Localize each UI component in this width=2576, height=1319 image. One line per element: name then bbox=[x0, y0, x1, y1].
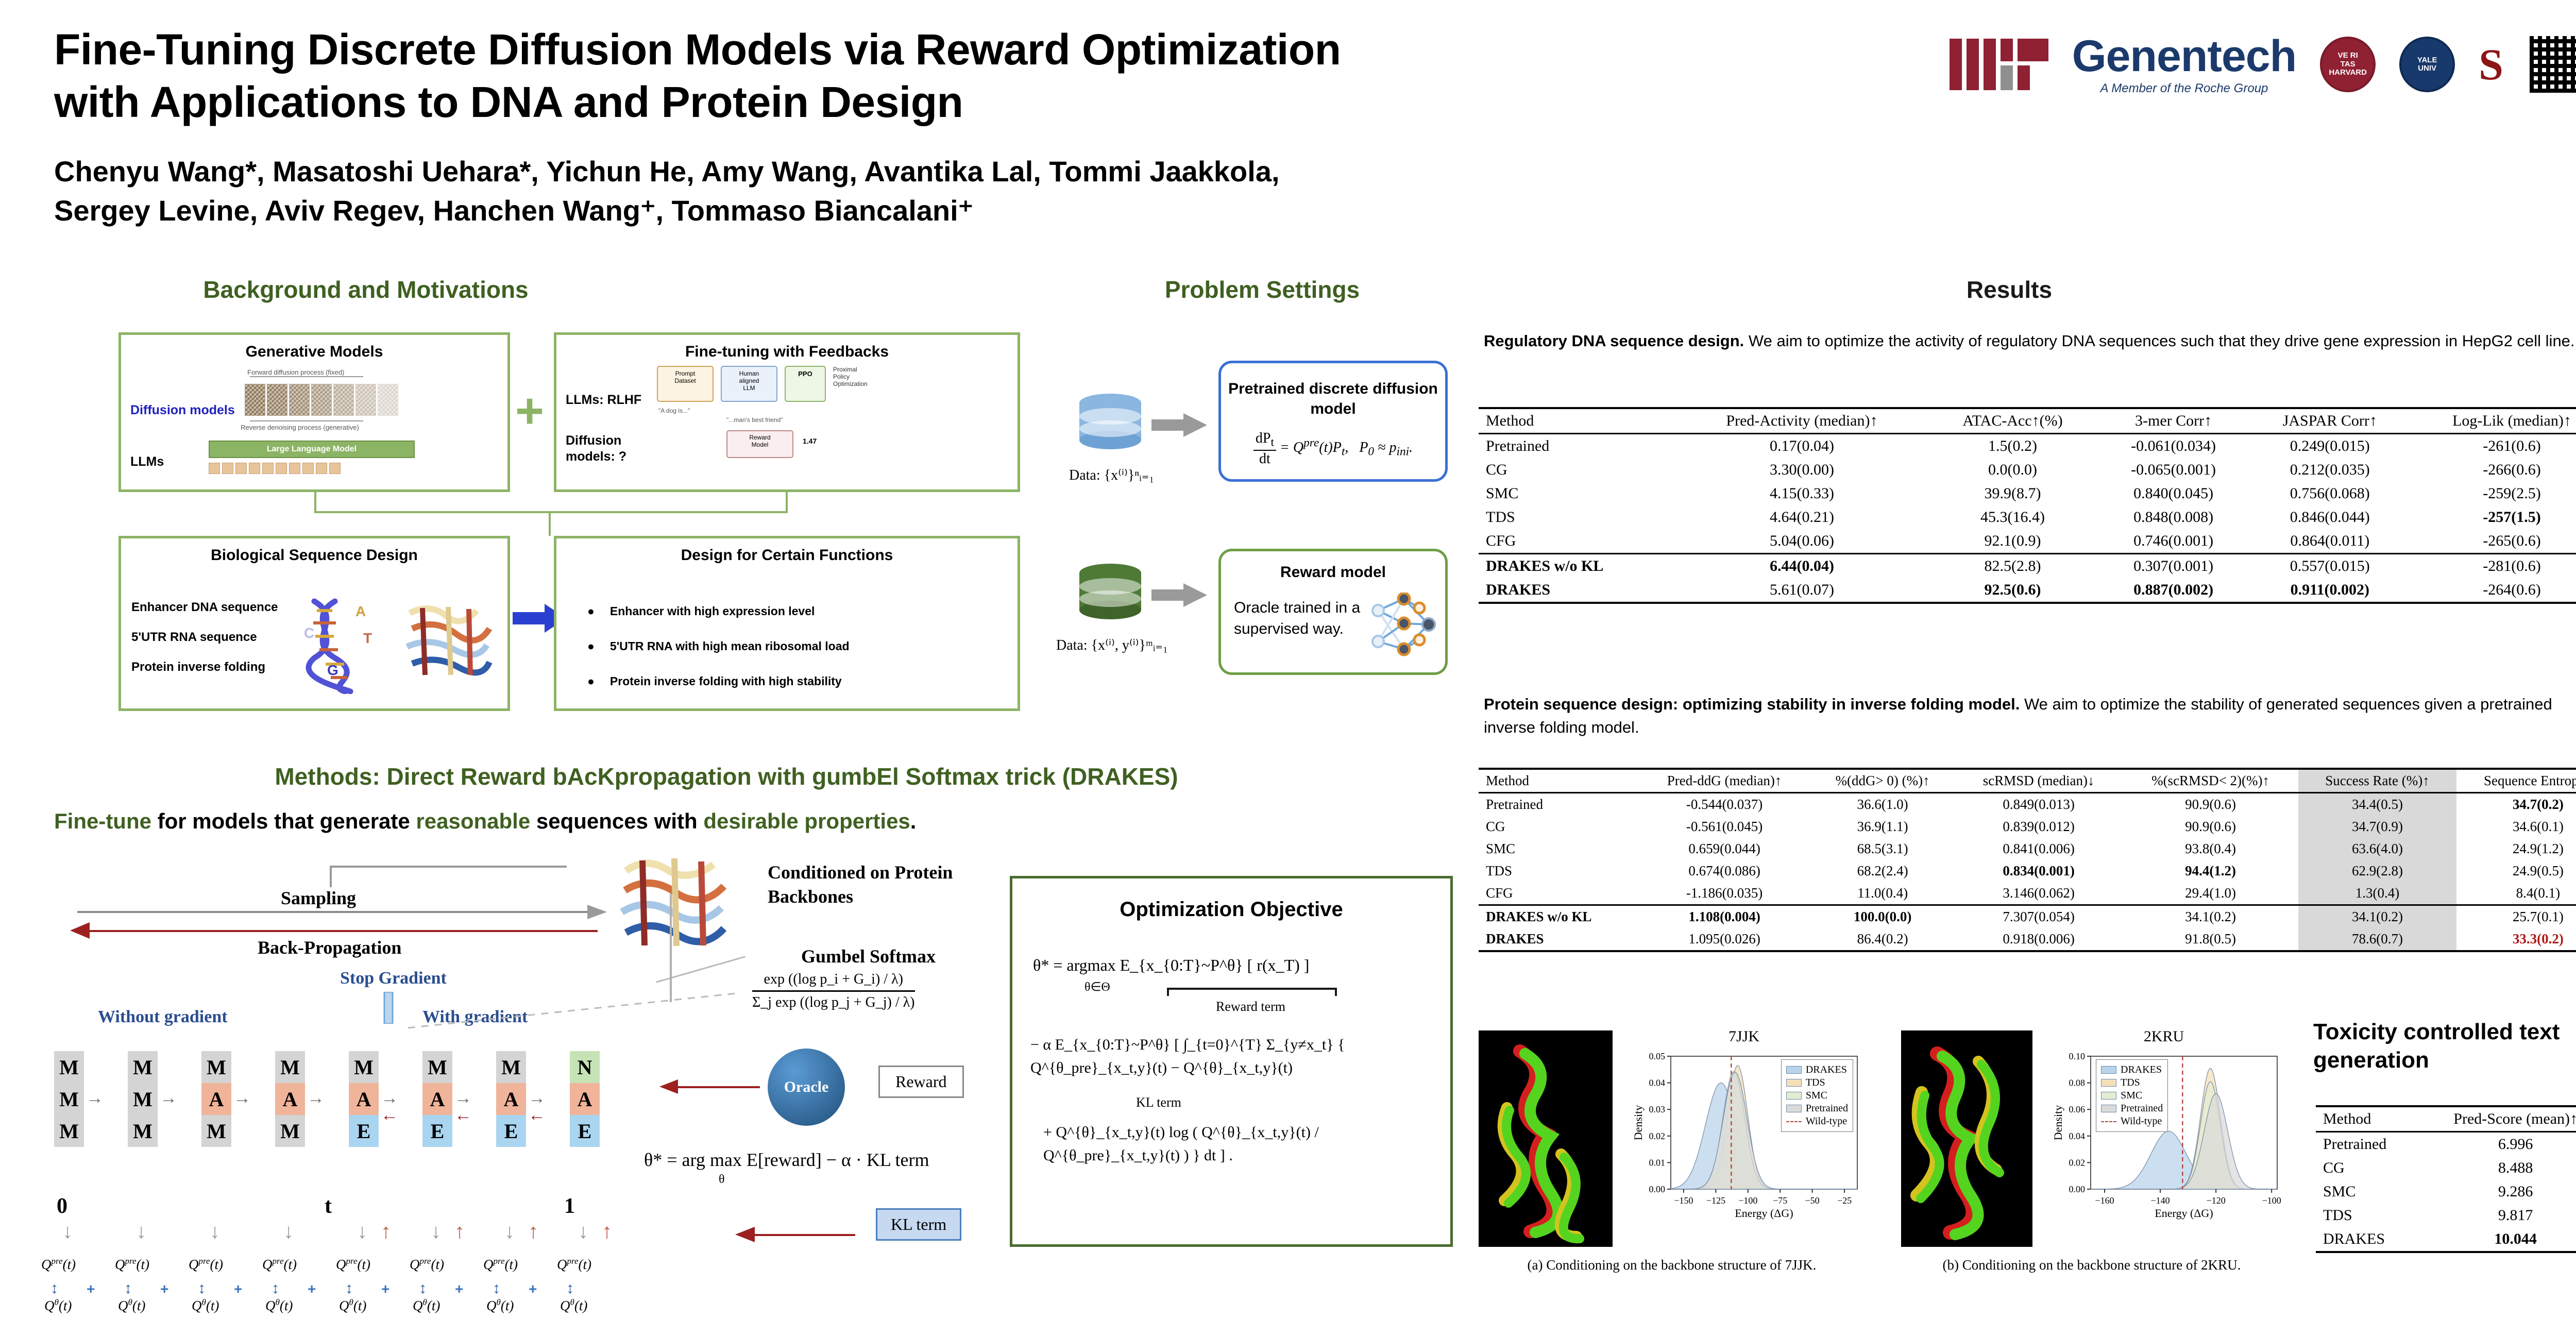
table-cell-method: CG bbox=[1479, 816, 1638, 838]
svg-text:Energy (ΔG): Energy (ΔG) bbox=[1735, 1207, 1793, 1220]
double-arrow-icon: ↕ bbox=[345, 1281, 353, 1296]
sequence-token: M bbox=[422, 1051, 452, 1083]
protein-structure-7jjk bbox=[1479, 1030, 1613, 1247]
genentech-wordmark: Genentech bbox=[2072, 34, 2296, 78]
sequence-forward-arrow-icon: → bbox=[86, 1088, 104, 1108]
table-row: DRAKES w/o KL1.108(0.004)100.0(0.0)7.307… bbox=[1479, 905, 2576, 928]
table-cell: 6.44(0.04) bbox=[1677, 554, 1926, 579]
q-theta-label: Qθ(t) bbox=[486, 1297, 514, 1314]
table-cell: 5.04(0.06) bbox=[1677, 529, 1926, 554]
protein-ribbon-icon bbox=[399, 598, 502, 690]
table-cell: 8.488 bbox=[2421, 1156, 2576, 1180]
svg-text:−100: −100 bbox=[1738, 1195, 1757, 1206]
sequence-token: M bbox=[201, 1115, 231, 1147]
up-arrow-icon: ↑ bbox=[528, 1221, 538, 1242]
table-cell-method: CFG bbox=[1479, 529, 1677, 554]
table-cell: 34.6(0.1) bbox=[2456, 816, 2576, 838]
timestep-t-label: t bbox=[325, 1194, 332, 1219]
sequence-token: M bbox=[54, 1115, 84, 1147]
q-pre-label: Qpre(t) bbox=[189, 1256, 223, 1273]
q-pre-label: Qpre(t) bbox=[410, 1256, 444, 1273]
sequence-token: N bbox=[570, 1051, 600, 1083]
legend-item: SMC bbox=[2101, 1090, 2163, 1102]
svg-text:0.02: 0.02 bbox=[1649, 1131, 1666, 1141]
table-cell-method: DRAKES w/o KL bbox=[1479, 554, 1677, 579]
dna-letter-A: A bbox=[355, 603, 366, 620]
pretrained-box-title: Pretrained discrete diffusion model bbox=[1221, 379, 1445, 419]
summary-formula-sub: θ bbox=[719, 1173, 725, 1187]
table-cell: 0.840(0.045) bbox=[2099, 482, 2248, 505]
legend-swatch bbox=[1786, 1092, 1802, 1100]
svg-text:Density: Density bbox=[2052, 1105, 2064, 1140]
sequence-forward-arrow-icon: → bbox=[160, 1088, 177, 1108]
sequence-token: E bbox=[349, 1115, 379, 1147]
legend-label: Wild-type bbox=[2121, 1115, 2162, 1127]
table-cell-method: TDS bbox=[1479, 860, 1638, 882]
table-cell: 33.3(0.2) bbox=[2456, 928, 2576, 951]
svg-text:Density: Density bbox=[1632, 1105, 1645, 1140]
table-cell: -0.065(0.001) bbox=[2099, 458, 2248, 482]
llms-rlhf-label: LLMs: RLHF bbox=[566, 393, 641, 408]
dna-results-heading: Regulatory DNA sequence design. We aim t… bbox=[1484, 330, 2576, 353]
down-arrow-icon: ↓ bbox=[504, 1221, 515, 1242]
arrow-right-icon-2 bbox=[1151, 582, 1208, 608]
reward-box-title: Reward model bbox=[1221, 564, 1445, 581]
table-cell: -281(0.6) bbox=[2412, 554, 2576, 579]
q-pre-label: Qpre(t) bbox=[262, 1256, 297, 1273]
svg-text:−150: −150 bbox=[1674, 1195, 1693, 1206]
legend-item: SMC bbox=[1786, 1090, 1848, 1102]
table-row: DRAKES1.095(0.026)86.4(0.2)0.918(0.006)9… bbox=[1479, 928, 2576, 951]
protein-results-heading: Protein sequence design: optimizing stab… bbox=[1484, 693, 2576, 739]
q-pre-label: Qpre(t) bbox=[336, 1256, 370, 1273]
sequence-token: M bbox=[128, 1051, 158, 1083]
double-arrow-icon: ↕ bbox=[50, 1281, 58, 1296]
table-cell: 3.30(0.00) bbox=[1677, 458, 1926, 482]
table-cell: 1.108(0.004) bbox=[1638, 905, 1810, 928]
dna-letter-C: C bbox=[304, 625, 314, 641]
table-cell-method: Pretrained bbox=[1479, 434, 1677, 459]
svg-text:0.03: 0.03 bbox=[1649, 1104, 1666, 1114]
table-cell: 25.7(0.1) bbox=[2456, 905, 2576, 928]
biological-sequence-design-box: Biological Sequence Design Enhancer DNA … bbox=[118, 536, 510, 711]
q-pre-label: Qpre(t) bbox=[557, 1256, 591, 1273]
legend-label: Pretrained bbox=[1806, 1103, 1848, 1114]
q-theta-label: Qθ(t) bbox=[44, 1297, 72, 1314]
table-header-cell: 3-mer Corr↑ bbox=[2099, 408, 2248, 434]
section-heading-methods: Methods: Direct Reward bAcKpropagation w… bbox=[180, 763, 1273, 790]
table-cell: 29.4(1.0) bbox=[2123, 882, 2299, 905]
svg-text:0.10: 0.10 bbox=[2069, 1051, 2086, 1061]
rlhf-pipeline-diagram: PromptDataset HumanalignedLLM PPO Proxim… bbox=[657, 366, 895, 402]
table-header-cell: Success Rate (%)↑ bbox=[2298, 769, 2456, 793]
table-header-cell: Log-Lik (median)↑ bbox=[2412, 408, 2576, 434]
sequence-token: A bbox=[275, 1083, 305, 1115]
author-list: Chenyu Wang*, Masatoshi Uehara*, Yichun … bbox=[54, 152, 1373, 230]
svg-text:−160: −160 bbox=[2095, 1195, 2114, 1206]
design-item-2: ●Protein inverse folding with high stabi… bbox=[587, 674, 842, 688]
stop-gradient-label: Stop Gradient bbox=[340, 969, 447, 988]
yale-seal-icon: YALEUNIV bbox=[2399, 37, 2455, 92]
objective-title: Optimization Objective bbox=[1012, 898, 1450, 921]
design-functions-box: Design for Certain Functions ●Enhancer w… bbox=[554, 536, 1020, 711]
table-cell: -265(0.6) bbox=[2412, 529, 2576, 554]
conditioned-backbone-label: Conditioned on Protein Backbones bbox=[768, 860, 953, 909]
sequence-token: M bbox=[54, 1051, 84, 1083]
section-heading-problem: Problem Settings bbox=[1082, 276, 1443, 303]
legend-item: Wild-type bbox=[1786, 1115, 1848, 1127]
sequence-token: E bbox=[422, 1115, 452, 1147]
table-cell: 0.918(0.006) bbox=[1955, 928, 2122, 951]
backprop-label: Back-Propagation bbox=[258, 937, 401, 958]
table-cell: 0.756(0.068) bbox=[2248, 482, 2412, 505]
up-arrow-icon: ↑ bbox=[381, 1221, 391, 1242]
qr-code-icon[interactable] bbox=[2527, 33, 2576, 95]
optimization-objective-box: Optimization Objective θ* = argmax E_{x_… bbox=[1010, 876, 1453, 1247]
reward-box-text: Oracle trained in a supervised way. bbox=[1234, 598, 1363, 639]
table-header-cell: Pred-Activity (median)↑ bbox=[1677, 408, 1926, 434]
kl-arrow-icon bbox=[734, 1227, 755, 1242]
objective-line-2: − α E_{x_{0:T}~P^θ} [ ∫_{t=0}^{T} Σ_{y≠x… bbox=[1030, 1033, 1437, 1079]
legend-label: SMC bbox=[1806, 1090, 1827, 1102]
bioseq-title: Biological Sequence Design bbox=[121, 547, 507, 564]
reward-backprop-arrow-icon bbox=[658, 1079, 678, 1094]
sequence-column: MAE bbox=[422, 1051, 452, 1147]
density-chart-2kru: −160−140−120−1000.000.020.040.060.080.10… bbox=[2050, 1051, 2282, 1221]
finetuning-title: Fine-tuning with Feedbacks bbox=[556, 343, 1018, 361]
table-header-cell: %(scRMSD< 2)(%)↑ bbox=[2123, 769, 2299, 793]
legend-swatch bbox=[1786, 1105, 1802, 1112]
q-pre-label: Qpre(t) bbox=[115, 1256, 149, 1273]
table-cell: 1.3(0.4) bbox=[2298, 882, 2456, 905]
sequence-backward-arrow-icon: ← bbox=[454, 1105, 472, 1125]
legend-item: TDS bbox=[1786, 1077, 1848, 1089]
section-heading-background: Background and Motivations bbox=[88, 276, 644, 303]
table-cell: 0.849(0.013) bbox=[1955, 793, 2122, 816]
table-header-cell: Pred-ddG (median)↑ bbox=[1638, 769, 1810, 793]
double-arrow-icon: ↕ bbox=[272, 1281, 279, 1296]
table-cell: 36.9(1.1) bbox=[1810, 816, 1955, 838]
harvard-seal-icon: VE RITASHARVARD bbox=[2320, 37, 2376, 92]
poster-root: Fine-Tuning Discrete Diffusion Models vi… bbox=[0, 0, 2576, 1319]
pretrained-box-formula: dPt dt = Qpre(t)Pt, P0 ≈ pini. bbox=[1221, 430, 1445, 467]
table-cell: 0.746(0.001) bbox=[2099, 529, 2248, 554]
table-cell: 39.9(8.7) bbox=[1927, 482, 2099, 505]
genentech-tagline: A Member of the Roche Group bbox=[2100, 82, 2268, 95]
legend-dashed-line bbox=[2101, 1121, 2116, 1122]
table-row: CG-0.561(0.045)36.9(1.1)0.839(0.012)90.9… bbox=[1479, 816, 2576, 838]
legend-item: Pretrained bbox=[1786, 1103, 1848, 1114]
double-arrow-icon: ↕ bbox=[566, 1281, 574, 1296]
table-cell: 91.8(0.5) bbox=[2123, 928, 2299, 951]
gumbel-softmax-formula: exp ((log p_i + G_i) / λ) Σ_j exp ((log … bbox=[752, 971, 915, 1011]
double-arrow-icon: ↕ bbox=[419, 1281, 427, 1296]
table-cell: 0.0(0.0) bbox=[1927, 458, 2099, 482]
dna-letter-G: G bbox=[327, 662, 338, 679]
legend-item: TDS bbox=[2101, 1077, 2163, 1089]
table-cell-method: SMC bbox=[1479, 838, 1638, 860]
svg-text:−50: −50 bbox=[1805, 1195, 1820, 1206]
table-cell: 9.817 bbox=[2421, 1204, 2576, 1227]
protein-backbone-icon bbox=[611, 845, 744, 958]
genentech-logo: Genentech A Member of the Roche Group bbox=[2072, 34, 2296, 95]
table-cell: 10.044 bbox=[2421, 1227, 2576, 1252]
oracle-node: Oracle bbox=[768, 1049, 845, 1126]
chart-7jjk-title: 7JJK bbox=[1633, 1028, 1855, 1045]
sampling-label: Sampling bbox=[281, 887, 356, 909]
legend-swatch bbox=[1786, 1079, 1802, 1087]
double-arrow-icon: ↕ bbox=[198, 1281, 206, 1296]
database-icon-blue bbox=[1077, 392, 1144, 459]
table-cell: 0.212(0.035) bbox=[2248, 458, 2412, 482]
table-cell: -261(0.6) bbox=[2412, 434, 2576, 459]
backprop-arrow-icon bbox=[68, 922, 90, 939]
sequence-token: E bbox=[570, 1115, 600, 1147]
table-cell: 0.249(0.015) bbox=[2248, 434, 2412, 459]
sequence-column: MAE bbox=[496, 1051, 526, 1147]
chip-score: 1.47 bbox=[803, 437, 817, 445]
table-cell: -1.186(0.035) bbox=[1638, 882, 1810, 905]
reverse-diffusion-caption: Reverse denoising process (generative) bbox=[241, 424, 359, 431]
table-cell: 94.4(1.2) bbox=[2123, 860, 2299, 882]
down-arrow-icon: ↓ bbox=[210, 1221, 220, 1242]
legend-label: DRAKES bbox=[2121, 1064, 2162, 1076]
gumbel-softmax-title: Gumbel Softmax bbox=[801, 945, 936, 967]
table-cell: 1.5(0.2) bbox=[1927, 434, 2099, 459]
sequence-column: MAM bbox=[201, 1051, 231, 1147]
chip-note-1: "A dog is..." bbox=[658, 407, 690, 414]
up-arrow-icon: ↑ bbox=[454, 1221, 465, 1242]
q-theta-label: Qθ(t) bbox=[560, 1297, 587, 1314]
design-title: Design for Certain Functions bbox=[556, 547, 1018, 564]
svg-text:−140: −140 bbox=[2150, 1195, 2170, 1206]
sequence-backward-arrow-icon: ← bbox=[381, 1105, 398, 1125]
sequence-token: M bbox=[128, 1083, 158, 1115]
svg-text:0.06: 0.06 bbox=[2069, 1104, 2086, 1114]
table-cell: 0.864(0.011) bbox=[2248, 529, 2412, 554]
table-cell: 24.9(0.5) bbox=[2456, 860, 2576, 882]
table-cell: 0.846(0.044) bbox=[2248, 505, 2412, 529]
plus-icon-small: + bbox=[234, 1282, 242, 1296]
svg-text:0.00: 0.00 bbox=[2069, 1184, 2086, 1194]
svg-text:0.01: 0.01 bbox=[1649, 1157, 1666, 1168]
table-cell: 90.9(0.6) bbox=[2123, 816, 2299, 838]
table-row: TDS4.64(0.21)45.3(16.4)0.848(0.008)0.846… bbox=[1479, 505, 2576, 529]
table-cell: 0.834(0.001) bbox=[1955, 860, 2122, 882]
q-pre-label: Qpre(t) bbox=[41, 1256, 76, 1273]
toxicity-results-table: MethodPred-Score (mean)↑Pretrained6.996C… bbox=[2316, 1105, 2576, 1253]
design-item-1: ●5'UTR RNA with high mean ribosomal load bbox=[587, 639, 850, 653]
svg-text:0.04: 0.04 bbox=[1649, 1078, 1666, 1088]
table-row: SMC9.286 bbox=[2316, 1180, 2576, 1204]
sequence-column: MMM bbox=[54, 1051, 84, 1147]
objective-brace-2-label: KL term bbox=[1136, 1095, 1181, 1110]
table-cell: 68.5(3.1) bbox=[1810, 838, 1955, 860]
timestep-1-label: 1 bbox=[564, 1194, 575, 1219]
double-arrow-icon: ↕ bbox=[493, 1281, 500, 1296]
table-row: Pretrained-0.544(0.037)36.6(1.0)0.849(0.… bbox=[1479, 793, 2576, 816]
diffusion-strip bbox=[245, 384, 398, 416]
legend-label: TDS bbox=[2121, 1077, 2140, 1089]
legend-label: DRAKES bbox=[1806, 1064, 1847, 1076]
table-cell: 92.5(0.6) bbox=[1927, 578, 2099, 603]
mit-logo-icon bbox=[1950, 39, 2048, 90]
table-header-cell: Method bbox=[1479, 769, 1638, 793]
table-cell: 34.1(0.2) bbox=[2298, 905, 2456, 928]
sequence-token: E bbox=[496, 1115, 526, 1147]
legend-label: Wild-type bbox=[1806, 1115, 1847, 1127]
table-cell: 36.6(1.0) bbox=[1810, 793, 1955, 816]
without-gradient-label: Without gradient bbox=[98, 1007, 228, 1027]
legend-item: DRAKES bbox=[2101, 1064, 2163, 1076]
table-row: CG3.30(0.00)0.0(0.0)-0.065(0.001)0.212(0… bbox=[1479, 458, 2576, 482]
table-row: SMC0.659(0.044)68.5(3.1)0.841(0.006)93.8… bbox=[1479, 838, 2576, 860]
table-cell: 6.996 bbox=[2421, 1132, 2576, 1157]
table-cell: 93.8(0.4) bbox=[2123, 838, 2299, 860]
arrow-right-icon-1 bbox=[1151, 412, 1208, 438]
svg-text:0.08: 0.08 bbox=[2069, 1078, 2086, 1088]
sequence-forward-arrow-icon: → bbox=[307, 1088, 325, 1108]
table-cell: 100.0(0.0) bbox=[1810, 905, 1955, 928]
table-cell: 4.15(0.33) bbox=[1677, 482, 1926, 505]
gumbel-denominator: Σ_j exp ((log p_j + G_j) / λ) bbox=[752, 992, 915, 1011]
legend-item: Pretrained bbox=[2101, 1103, 2163, 1114]
table-cell: 4.64(0.21) bbox=[1677, 505, 1926, 529]
table-header-cell: Pred-Score (mean)↑ bbox=[2421, 1106, 2576, 1132]
section-heading-results: Results bbox=[1829, 276, 2190, 303]
table-cell-method: SMC bbox=[2316, 1180, 2421, 1204]
table-cell: 0.659(0.044) bbox=[1638, 838, 1810, 860]
table-row: DRAKES5.61(0.07)92.5(0.6)0.887(0.002)0.9… bbox=[1479, 578, 2576, 603]
generative-models-box: Generative Models Diffusion models LLMs … bbox=[118, 332, 510, 492]
sequence-token: M bbox=[54, 1083, 84, 1115]
legend-swatch bbox=[2101, 1105, 2116, 1112]
figure-caption-a: (a) Conditioning on the backbone structu… bbox=[1476, 1257, 1868, 1273]
table-header-cell: Sequence Entropy↑ bbox=[2456, 769, 2576, 793]
svg-text:0.02: 0.02 bbox=[2069, 1157, 2086, 1168]
legend-swatch bbox=[2101, 1066, 2116, 1074]
table-cell: 11.0(0.4) bbox=[1810, 882, 1955, 905]
dna-results-table: MethodPred-Activity (median)↑ATAC-Acc↑(%… bbox=[1479, 407, 2576, 604]
table-cell: 34.4(0.5) bbox=[2298, 793, 2456, 816]
table-cell: 78.6(0.7) bbox=[2298, 928, 2456, 951]
sequence-token: A bbox=[349, 1083, 379, 1115]
legend-swatch bbox=[2101, 1079, 2116, 1087]
chart-legend: DRAKESTDSSMCPretrainedWild-type bbox=[1781, 1059, 1853, 1132]
table-cell: 62.9(2.8) bbox=[2298, 860, 2456, 882]
protein-results-table: MethodPred-ddG (median)↑%(ddG> 0) (%)↑sc… bbox=[1479, 768, 2576, 952]
table-cell: 8.4(0.1) bbox=[2456, 882, 2576, 905]
table-cell: 34.7(0.2) bbox=[2456, 793, 2576, 816]
table-cell: 0.887(0.002) bbox=[2099, 578, 2248, 603]
table-cell: -257(1.5) bbox=[2412, 505, 2576, 529]
table-cell-method: DRAKES bbox=[1479, 928, 1638, 951]
table-row: TDS9.817 bbox=[2316, 1204, 2576, 1227]
table-header-cell: Method bbox=[1479, 408, 1677, 434]
vertical-connector bbox=[670, 894, 672, 1002]
plus-icon-small: + bbox=[455, 1282, 463, 1296]
sequence-token: A bbox=[570, 1083, 600, 1115]
table-cell: 7.307(0.054) bbox=[1955, 905, 2122, 928]
methods-subtitle: Fine-tune for models that generate reaso… bbox=[54, 809, 916, 834]
table-row: Pretrained6.996 bbox=[2316, 1132, 2576, 1157]
plus-icon-small: + bbox=[529, 1282, 537, 1296]
sequence-token: M bbox=[275, 1051, 305, 1083]
table-cell: 68.2(2.4) bbox=[1810, 860, 1955, 882]
pretrained-model-box: Pretrained discrete diffusion model dPt … bbox=[1218, 361, 1448, 482]
table-cell: 63.6(4.0) bbox=[2298, 838, 2456, 860]
legend-swatch bbox=[2101, 1092, 2116, 1100]
finetuning-feedback-box: Fine-tuning with Feedbacks LLMs: RLHF Di… bbox=[554, 332, 1020, 492]
table-header-cell: Method bbox=[2316, 1106, 2421, 1132]
table-cell: 92.1(0.9) bbox=[1927, 529, 2099, 554]
sequence-token: M bbox=[201, 1051, 231, 1083]
down-arrow-icon: ↓ bbox=[357, 1221, 367, 1242]
sequence-token: M bbox=[275, 1115, 305, 1147]
reward-model-chip: RewardModel bbox=[726, 430, 793, 458]
q-theta-label: Qθ(t) bbox=[413, 1297, 440, 1314]
table-header-cell: scRMSD (median)↓ bbox=[1955, 769, 2122, 793]
legend-item: DRAKES bbox=[1786, 1064, 1848, 1076]
table-cell: 82.5(2.8) bbox=[1927, 554, 2099, 579]
svg-text:0.00: 0.00 bbox=[1649, 1184, 1666, 1194]
bioseq-item-2: Protein inverse folding bbox=[131, 660, 265, 674]
bioseq-item-0: Enhancer DNA sequence bbox=[131, 600, 278, 615]
table-cell: -0.061(0.034) bbox=[2099, 434, 2248, 459]
sequence-backward-arrow-icon: ← bbox=[528, 1105, 546, 1125]
sequence-token: M bbox=[128, 1115, 158, 1147]
svg-text:−125: −125 bbox=[1706, 1195, 1725, 1206]
table-cell: -264(0.6) bbox=[2412, 578, 2576, 603]
summary-formula: θ* = arg max E[reward] − α · KL term bbox=[644, 1149, 929, 1171]
table-row: DRAKES w/o KL6.44(0.04)82.5(2.8)0.307(0.… bbox=[1479, 554, 2576, 579]
table-cell: 90.9(0.6) bbox=[2123, 793, 2299, 816]
table-row: Pretrained0.17(0.04)1.5(0.2)-0.061(0.034… bbox=[1479, 434, 2576, 459]
design-item-0: ●Enhancer with high expression level bbox=[587, 604, 815, 618]
density-chart-7jjk: −150−125−100−75−50−250.000.010.020.030.0… bbox=[1631, 1051, 1862, 1221]
legend-label: TDS bbox=[1806, 1077, 1825, 1089]
table-cell: 0.17(0.04) bbox=[1677, 434, 1926, 459]
table-cell: 34.7(0.9) bbox=[2298, 816, 2456, 838]
down-arrow-icon: ↓ bbox=[283, 1221, 294, 1242]
table-cell: 5.61(0.07) bbox=[1677, 578, 1926, 603]
svg-text:−120: −120 bbox=[2207, 1195, 2226, 1206]
sequence-token: M bbox=[496, 1051, 526, 1083]
table-cell: 0.307(0.001) bbox=[2099, 554, 2248, 579]
sequence-column: NAE bbox=[570, 1051, 600, 1147]
neural-net-icon bbox=[1368, 593, 1440, 659]
table-cell-method: SMC bbox=[1479, 482, 1677, 505]
plus-icon-small: + bbox=[87, 1282, 95, 1296]
objective-sub-1: θ∈Θ bbox=[1084, 979, 1110, 994]
legend-label: SMC bbox=[2121, 1090, 2142, 1102]
svg-text:−25: −25 bbox=[1837, 1195, 1852, 1206]
database-icon-green bbox=[1077, 562, 1144, 629]
table-cell: 9.286 bbox=[2421, 1180, 2576, 1204]
table-cell: -266(0.6) bbox=[2412, 458, 2576, 482]
plus-icon-small: + bbox=[308, 1282, 316, 1296]
sampling-arrow-icon bbox=[587, 905, 608, 920]
table-cell: 34.1(0.2) bbox=[2123, 905, 2299, 928]
table-cell-method: CFG bbox=[1479, 882, 1638, 905]
table-cell: 3.146(0.062) bbox=[1955, 882, 2122, 905]
table-cell-method: DRAKES bbox=[1479, 578, 1677, 603]
legend-swatch bbox=[1786, 1066, 1802, 1074]
q-pre-label: Qpre(t) bbox=[483, 1256, 518, 1273]
diffusion-question-label: Diffusion models: ? bbox=[566, 433, 646, 465]
table-cell: 0.911(0.002) bbox=[2248, 578, 2412, 603]
table-cell: 0.674(0.086) bbox=[1638, 860, 1810, 882]
